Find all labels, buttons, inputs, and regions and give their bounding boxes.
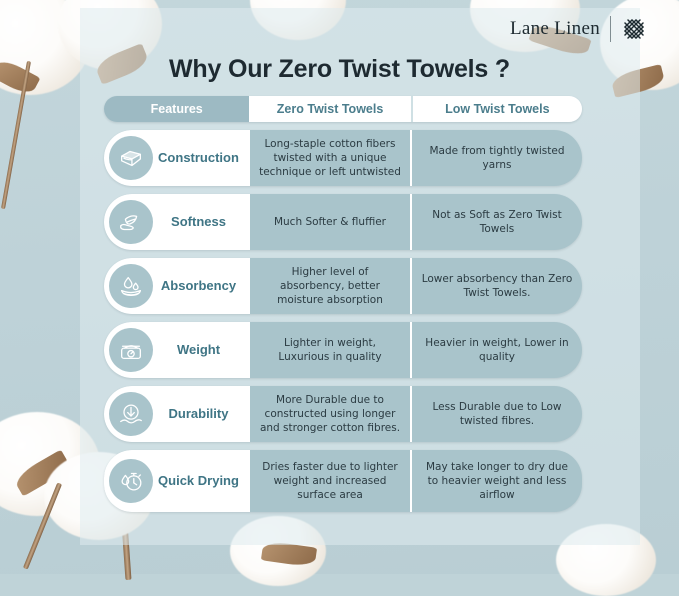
header-features: Features <box>104 96 249 122</box>
feature-label-cell: Quick Drying <box>104 450 250 512</box>
table-header-row: Features Zero Twist Towels Low Twist Tow… <box>104 96 582 122</box>
table-row: Construction Long-staple cotton fibers t… <box>104 130 582 186</box>
low-twist-cell: Lower absorbency than Zero Twist Towels. <box>412 258 582 314</box>
table-row: Quick Drying Dries faster due to lighter… <box>104 450 582 512</box>
stopwatch-droplet-icon <box>109 459 153 503</box>
feature-label-cell: Construction <box>104 130 250 186</box>
low-twist-cell: Not as Soft as Zero Twist Towels <box>412 194 582 250</box>
feature-label: Durability <box>153 407 250 422</box>
zero-twist-cell: Long-staple cotton fibers twisted with a… <box>250 130 412 186</box>
table-row: Durability More Durable due to construct… <box>104 386 582 442</box>
hand-feather-icon <box>109 200 153 244</box>
low-twist-cell: May take longer to dry due to heavier we… <box>412 450 582 512</box>
feature-label-cell: Softness <box>104 194 250 250</box>
low-twist-cell: Less Durable due to Low twisted fibres. <box>412 386 582 442</box>
low-twist-cell: Made from tightly twisted yarns <box>412 130 582 186</box>
brand-name: Lane Linen <box>510 18 600 40</box>
kitchen-scale-icon <box>109 328 153 372</box>
feature-label: Quick Drying <box>153 474 250 489</box>
header-zero-twist: Zero Twist Towels <box>249 96 412 122</box>
feature-label-cell: Durability <box>104 386 250 442</box>
zero-twist-cell: Lighter in weight, Luxurious in quality <box>250 322 412 378</box>
logo-divider <box>610 16 611 42</box>
page-title: Why Our Zero Twist Towels ? <box>0 55 679 84</box>
comparison-table: Features Zero Twist Towels Low Twist Tow… <box>104 96 582 512</box>
feature-label-cell: Absorbency <box>104 258 250 314</box>
woven-lattice-icon <box>621 16 647 42</box>
low-twist-cell: Heavier in weight, Lower in quality <box>412 322 582 378</box>
water-droplets-bowl-icon <box>109 264 153 308</box>
zero-twist-cell: More Durable due to constructed using lo… <box>250 386 412 442</box>
zero-twist-cell: Higher level of absorbency, better moist… <box>250 258 412 314</box>
feature-label-cell: Weight <box>104 322 250 378</box>
table-row: Weight Lighter in weight, Luxurious in q… <box>104 322 582 378</box>
feature-label: Absorbency <box>153 279 250 294</box>
table-row: Absorbency Higher level of absorbency, b… <box>104 258 582 314</box>
feature-label: Weight <box>153 343 250 358</box>
folded-towel-icon <box>109 136 153 180</box>
brand-logo: Lane Linen <box>510 16 647 42</box>
zero-twist-cell: Dries faster due to lighter weight and i… <box>250 450 412 512</box>
zero-twist-cell: Much Softer & fluffier <box>250 194 412 250</box>
feature-label: Softness <box>153 215 250 230</box>
arrow-down-waves-icon <box>109 392 153 436</box>
header-low-twist: Low Twist Towels <box>413 96 582 122</box>
feature-label: Construction <box>153 151 250 166</box>
table-row: Softness Much Softer & fluffier Not as S… <box>104 194 582 250</box>
